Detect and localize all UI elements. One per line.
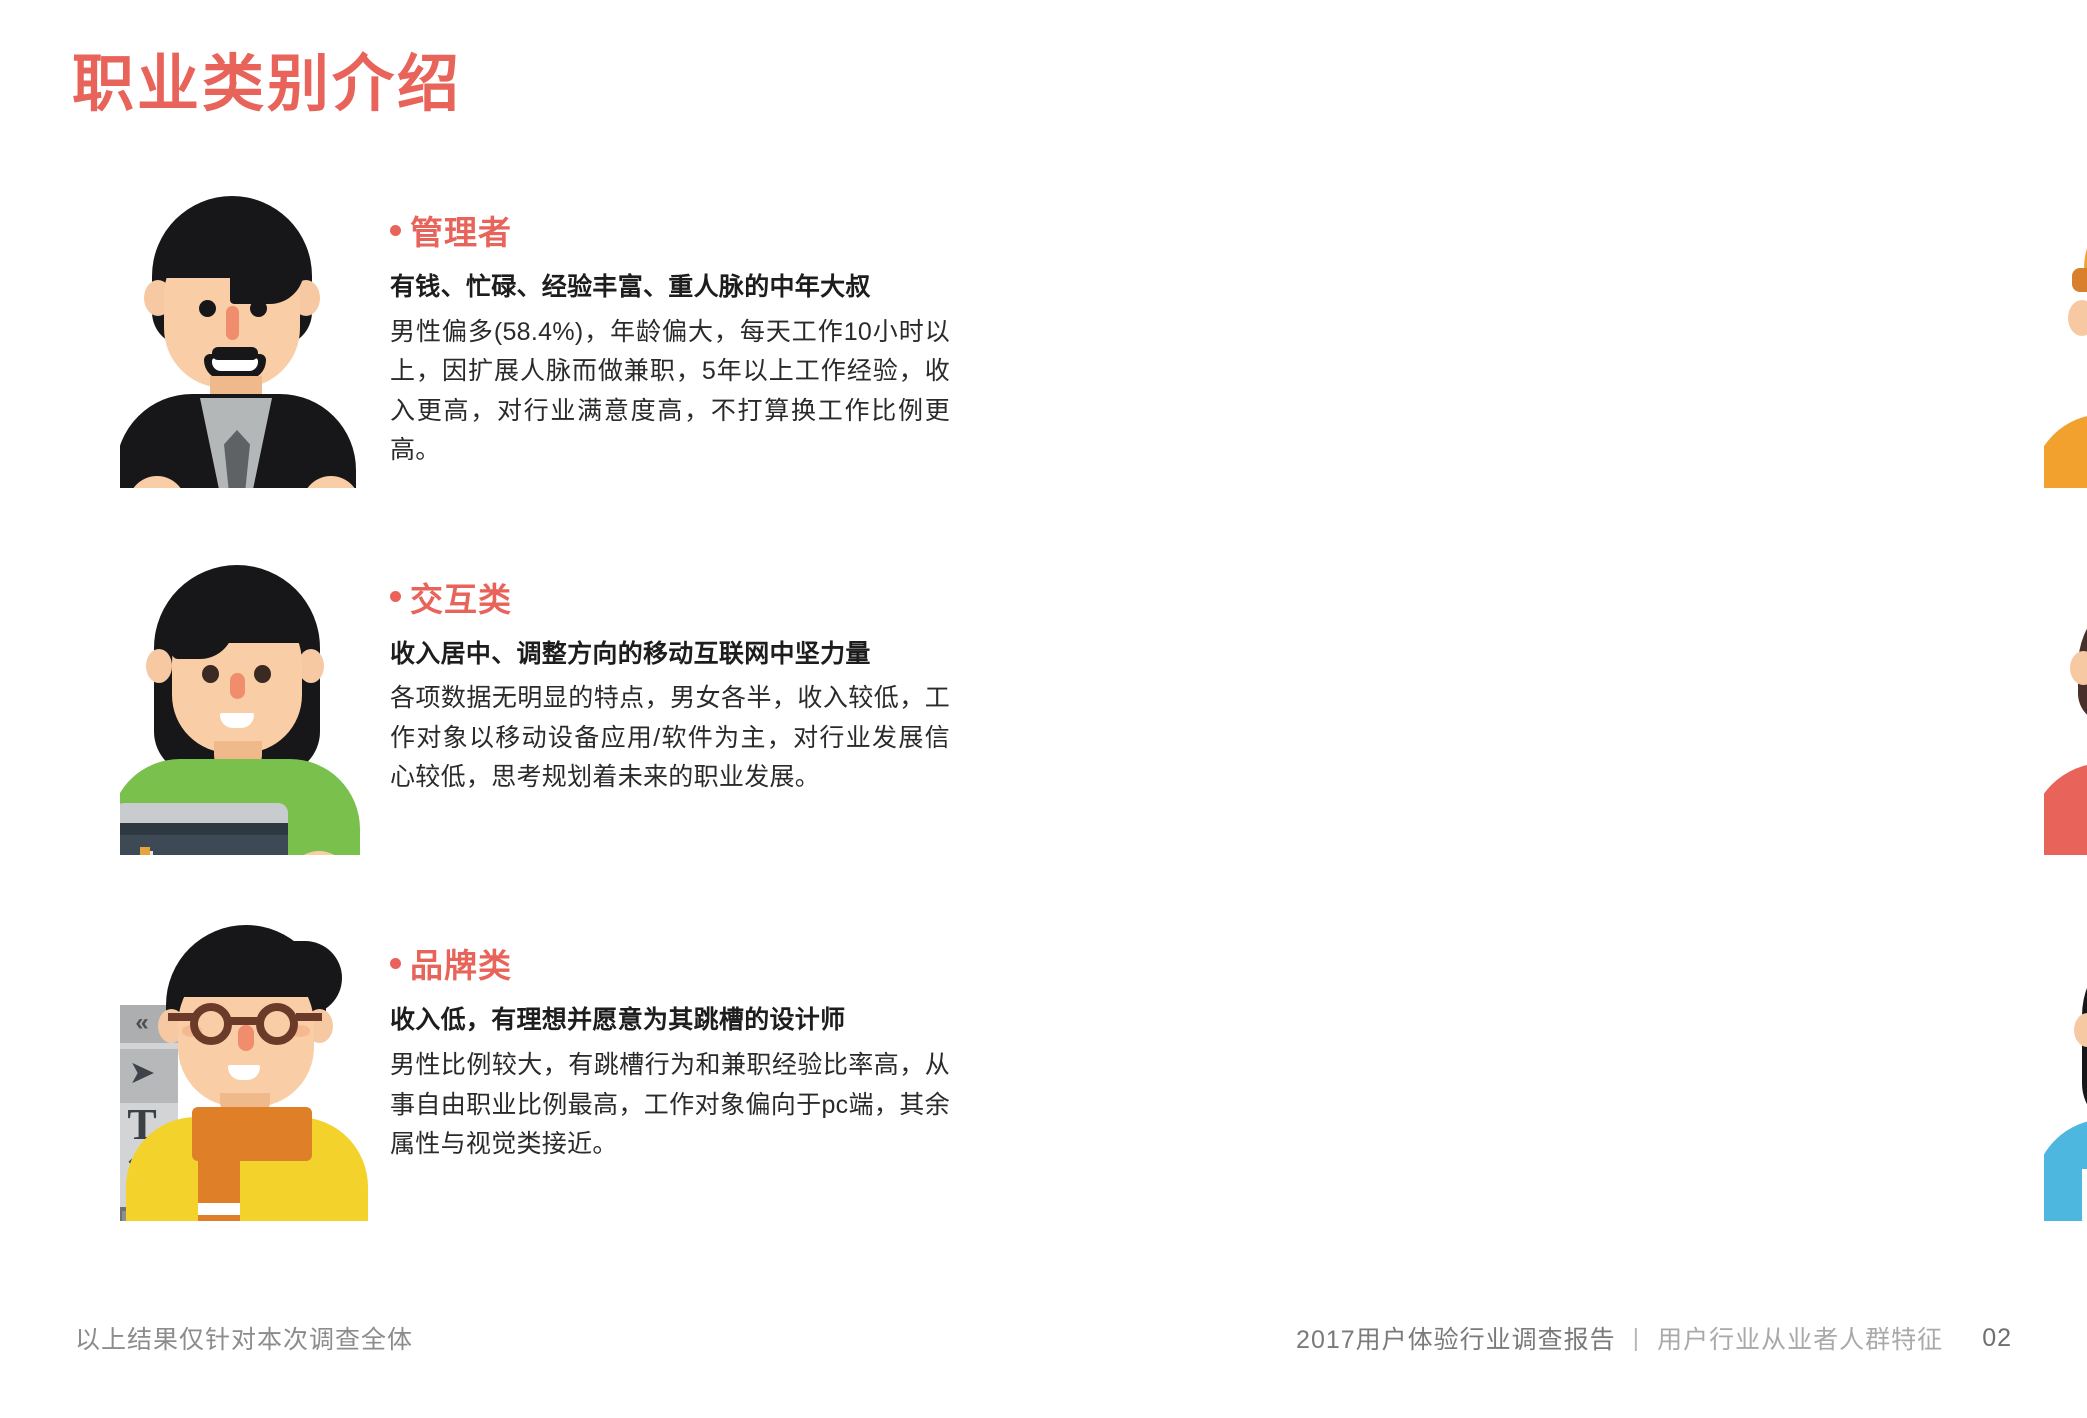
user-researcher-avatar	[2044, 921, 2087, 1241]
category-title: 交互类	[410, 573, 512, 621]
category-card-research: 用研类 高学历、多元化、好学、最稳定的研究专家 性别比例均衡，硕士及以上高学历比…	[1044, 921, 2087, 1288]
category-card-visual: 视觉类 收入低、有理想、对现状不满的文艺小青年 女性偏多，年龄偏低(22-30岁…	[1044, 188, 2087, 555]
brand-designer-avatar: « ➤ T	[120, 921, 380, 1241]
glasses-arm-right-shape	[296, 1013, 322, 1021]
category-heading: 交互类	[390, 573, 950, 621]
category-card-interaction: 交互类 收入居中、调整方向的移动互联网中坚力量 各项数据无明显的特点，男女各半，…	[0, 555, 1044, 922]
ear-left-shape	[2068, 300, 2087, 336]
visual-designer-avatar	[2044, 188, 2087, 508]
slide-page: 职业类别介绍	[0, 0, 2087, 1418]
nose-shape	[238, 1025, 254, 1051]
page-title: 职业类别介绍	[72, 48, 462, 122]
nose-shape	[230, 673, 245, 699]
footer-divider: |	[1633, 1324, 1641, 1353]
category-card-manager: 管理者 有钱、忙碌、经验丰富、重人脉的中年大叔 男性偏多(58.4%)，年龄偏大…	[0, 188, 1044, 555]
manager-avatar	[120, 188, 380, 508]
category-text-block: 品牌类 收入低，有理想并愿意为其跳槽的设计师 男性比例较大，有跳槽行为和兼职经验…	[390, 939, 950, 1164]
footer-section-title: 用户行业从业者人群特征	[1657, 1320, 1943, 1356]
eye-left-shape	[199, 300, 216, 317]
category-card-product: 产品类 起点低、涨幅快、对团队和公司有所依赖的小哥 男性偏多，年龄(22-30岁…	[1044, 555, 2087, 922]
bullet-icon	[390, 591, 401, 602]
category-heading: 管理者	[390, 206, 950, 254]
category-text-block: 交互类 收入居中、调整方向的移动互联网中坚力量 各项数据无明显的特点，男女各半，…	[390, 573, 950, 798]
fringe-shape	[178, 957, 314, 997]
page-footer: 以上结果仅针对本次调查全体 2017用户体验行业调查报告 | 用户行业从业者人群…	[0, 1320, 2087, 1366]
category-lead: 有钱、忙碌、经验丰富、重人脉的中年大叔	[390, 268, 950, 307]
scarf-stripe-1-shape	[198, 1203, 240, 1215]
category-title: 管理者	[410, 206, 512, 254]
report-paper-shape	[2082, 1169, 2087, 1221]
tree-line-shape	[150, 851, 153, 855]
cursor-icon: ➤	[120, 1053, 166, 1091]
eye-right-shape	[250, 300, 267, 317]
fringe-side-shape	[230, 238, 304, 304]
category-body: 男性偏多(58.4%)，年龄偏大，每天工作10小时以上，因扩展人脉而做兼职，5年…	[390, 313, 950, 471]
category-lead: 收入居中、调整方向的移动互联网中坚力量	[390, 635, 950, 674]
category-title: 品牌类	[410, 939, 512, 987]
footer-note: 以上结果仅针对本次调查全体	[75, 1320, 413, 1356]
footer-report-title: 2017用户体验行业调查报告	[1296, 1320, 1616, 1356]
tablet-titlebar-shape	[120, 823, 288, 835]
category-lead: 收入低，有理想并愿意为其跳槽的设计师	[390, 1001, 950, 1040]
nose-shape	[226, 306, 239, 340]
eye-left-shape	[202, 665, 219, 683]
category-heading: 品牌类	[390, 939, 950, 987]
cap-brim-shape	[2072, 268, 2087, 292]
ear-left-shape	[2074, 1013, 2087, 1047]
category-body: 男性比例较大，有跳槽行为和兼职经验比率高，从事自由职业比例最高，工作对象偏向于p…	[390, 1046, 950, 1165]
footer-page-number: 02	[1982, 1324, 2012, 1353]
category-text-block: 管理者 有钱、忙碌、经验丰富、重人脉的中年大叔 男性偏多(58.4%)，年龄偏大…	[390, 206, 950, 471]
eye-right-shape	[254, 665, 271, 683]
category-body: 各项数据无明显的特点，男女各半，收入较低，工作对象以移动设备应用/软件为主，对行…	[390, 679, 950, 798]
shirt-shape	[2044, 1119, 2087, 1221]
bullet-icon	[390, 958, 401, 969]
product-manager-avatar	[2044, 555, 2087, 875]
node-marker-shape	[140, 847, 150, 855]
interaction-designer-avatar	[120, 555, 380, 875]
footer-meta: 2017用户体验行业调查报告 | 用户行业从业者人群特征 02	[1296, 1320, 2012, 1356]
ear-left-shape	[2070, 651, 2087, 685]
ear-left-shape	[146, 649, 172, 683]
shirt-shape	[2044, 763, 2087, 855]
bullet-icon	[390, 225, 401, 236]
shirt-shape	[2044, 414, 2087, 488]
category-grid: 管理者 有钱、忙碌、经验丰富、重人脉的中年大叔 男性偏多(58.4%)，年龄偏大…	[0, 188, 2087, 1288]
mustache-shape	[212, 347, 258, 360]
category-card-brand: « ➤ T	[0, 921, 1044, 1288]
